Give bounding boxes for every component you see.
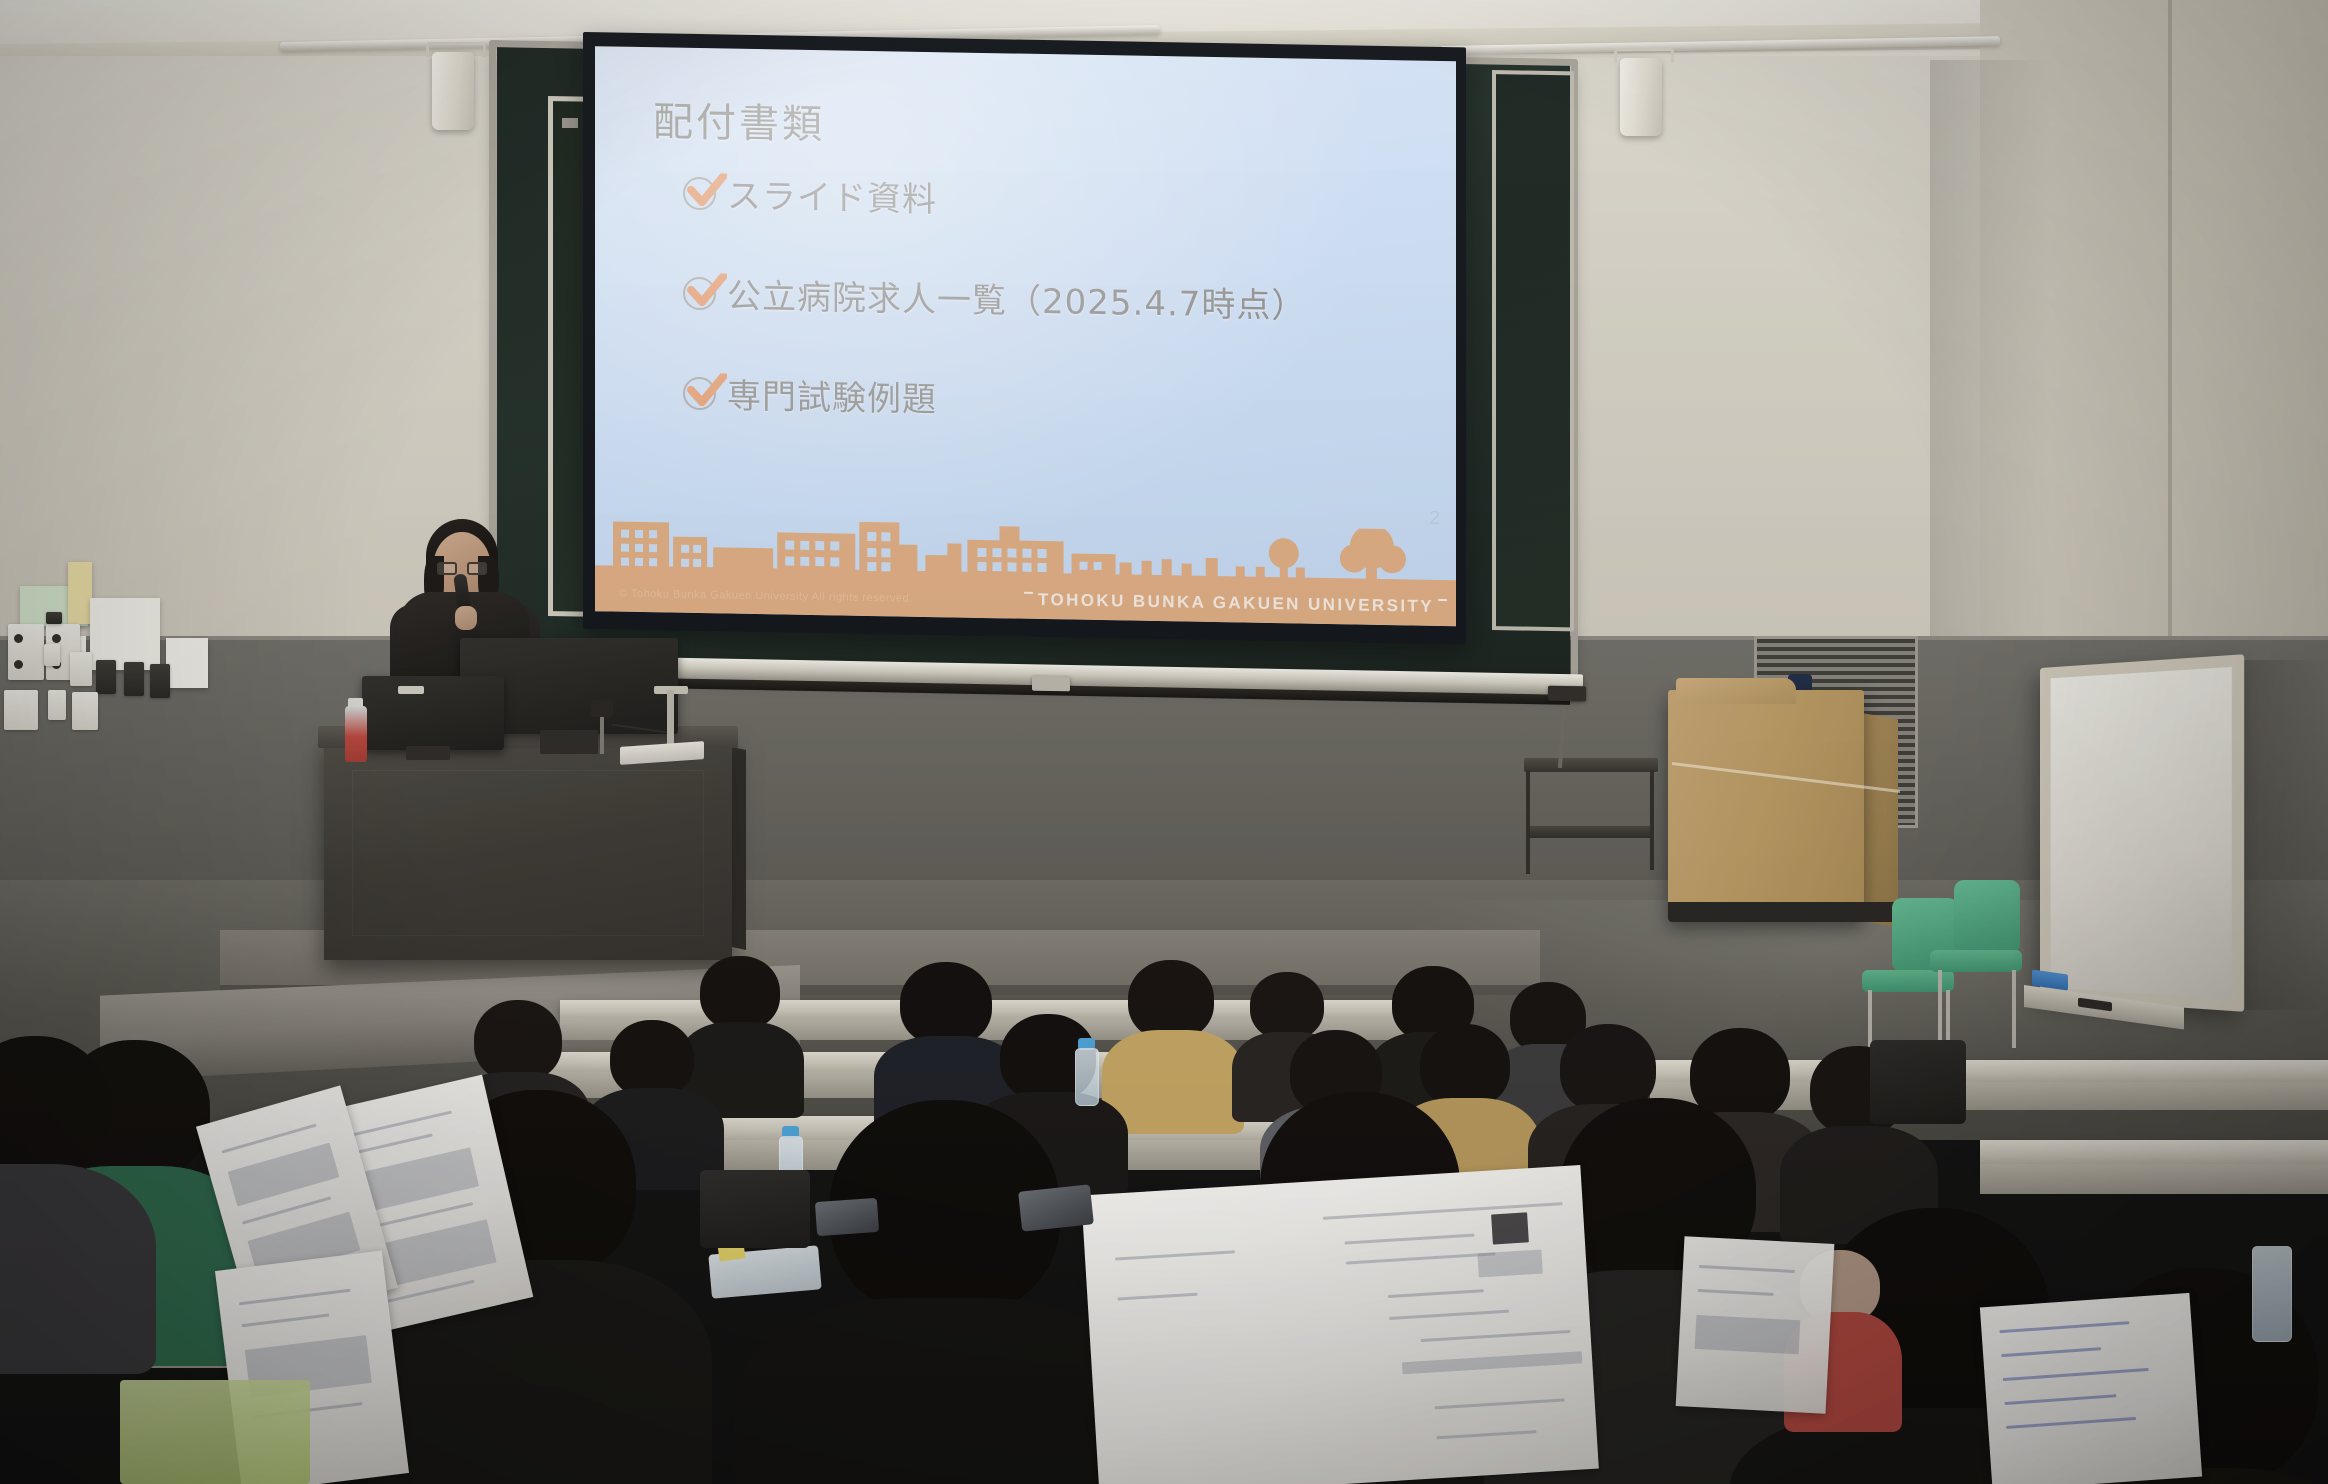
printed-handout[interactable]	[1676, 1236, 1835, 1414]
slide-bullet-label: スライド資料	[727, 169, 937, 222]
slide-title: 配付書類	[653, 89, 825, 150]
slide-bullet-item: 専門試験例題	[681, 368, 1426, 430]
wooden-lectern	[1668, 690, 1864, 920]
check-circle-icon	[681, 270, 725, 315]
slide-bullet-item: スライド資料	[681, 168, 1426, 230]
thermostat-panel[interactable]	[4, 690, 38, 730]
podium-front-panel	[352, 770, 704, 936]
desk-row-back	[560, 1000, 1460, 1020]
light-switch-small-3[interactable]	[48, 690, 66, 720]
podium-water-bottle[interactable]	[345, 706, 367, 762]
control-monitor-stand	[406, 746, 450, 760]
wall-notice-instructions	[166, 638, 208, 688]
light-switch-dark-1[interactable]	[96, 660, 116, 694]
rail-clip-icon	[1032, 676, 1070, 692]
gooseneck-microphone-stand	[600, 712, 604, 754]
tote-bag	[1870, 1040, 1966, 1124]
check-circle-icon	[681, 370, 725, 415]
slide-bullet-label: 専門試験例題	[727, 369, 937, 422]
cart-leg	[1526, 770, 1530, 874]
utility-cart-shelf	[1530, 826, 1654, 838]
desk-row-right-lower	[1980, 1140, 2328, 1166]
smartphone[interactable]	[1018, 1184, 1094, 1231]
water-bottle[interactable]	[1075, 1048, 1099, 1106]
tea-bottle[interactable]	[2252, 1246, 2292, 1342]
presenter-hand	[455, 606, 477, 630]
slide-page-number: 2	[1429, 508, 1440, 530]
monitor-label-sticker	[398, 686, 424, 694]
wall-seam	[2168, 0, 2172, 700]
lectern-base	[1668, 902, 1900, 922]
projected-slide: 配付書類 スライド資料	[595, 46, 1456, 626]
light-switch-small-4[interactable]	[72, 692, 98, 730]
lecture-hall-photo: 配付書類 スライド資料	[0, 0, 2328, 1484]
cart-leg	[1650, 770, 1654, 870]
gooseneck-microphone-icon	[591, 700, 613, 717]
portable-whiteboard[interactable]	[2040, 654, 2244, 1012]
printed-handout[interactable]	[1980, 1293, 2202, 1484]
light-switch-small-2[interactable]	[70, 652, 92, 686]
light-switch-panel-1[interactable]	[8, 624, 44, 680]
slide-bullet-label: 公立病院求人一覧（2025.4.7時点）	[727, 269, 1306, 328]
control-monitor[interactable]	[362, 676, 504, 750]
switch-indicator-icon	[46, 612, 62, 624]
slide-bullet-list: スライド資料 公立病院求人一覧（2025.4.7時点）	[681, 168, 1426, 481]
check-circle-icon	[681, 170, 725, 215]
utility-cart-top	[1524, 758, 1658, 772]
printed-handout-large[interactable]	[1081, 1165, 1599, 1484]
desk-row-right-lower-face	[1980, 1164, 2328, 1194]
light-switch-small[interactable]	[44, 644, 60, 666]
light-switch-dark-2[interactable]	[124, 662, 144, 696]
door-plate-icon	[562, 118, 578, 128]
slide-footer: © Tohoku Bunka Gakuen University All rig…	[595, 525, 1456, 626]
lectern-top-lip	[1676, 678, 1796, 704]
green-folder[interactable]	[120, 1380, 310, 1484]
slide-bullet-item: 公立病院求人一覧（2025.4.7時点）	[681, 268, 1426, 330]
wall-corner-shadow	[1930, 60, 2050, 700]
rail-end-cap-icon	[1548, 686, 1586, 702]
smartphone[interactable]	[815, 1198, 879, 1236]
wall-notice-yellow	[68, 562, 92, 624]
light-switch-dark-3[interactable]	[150, 664, 170, 698]
ceiling-spotlight-icon	[432, 52, 474, 130]
confidence-monitor-stand	[540, 730, 598, 754]
chalkboard-right-panel	[1492, 70, 1574, 631]
projection-screen: 配付書類 スライド資料	[583, 32, 1466, 644]
ceiling-spotlight-right-icon	[1620, 58, 1662, 136]
bag-on-desk	[700, 1170, 810, 1248]
